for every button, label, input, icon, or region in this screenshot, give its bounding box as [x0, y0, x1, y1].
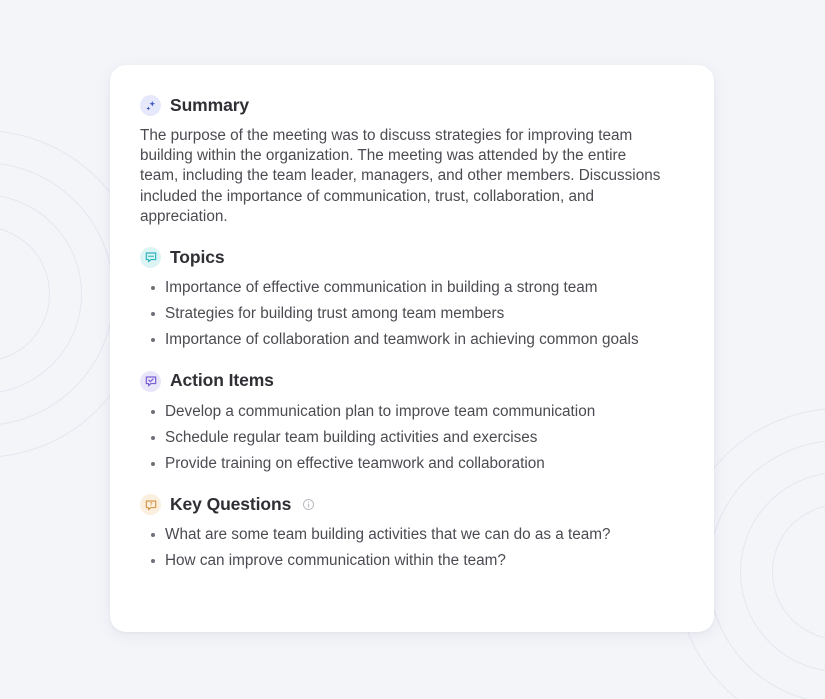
- decorative-ring: [708, 440, 825, 699]
- section-header-topics: Topics: [140, 247, 682, 268]
- decorative-ring: [0, 226, 50, 362]
- list-item: Strategies for building trust among team…: [140, 304, 682, 324]
- speech-bubble-check-icon: [140, 371, 161, 392]
- key-questions-list: What are some team building activities t…: [140, 525, 682, 571]
- section-title: Action Items: [170, 371, 274, 390]
- section-title: Key Questions: [170, 495, 291, 514]
- list-item: How can improve communication within the…: [140, 551, 682, 571]
- decorative-ring: [0, 162, 114, 426]
- section-title: Topics: [170, 248, 225, 267]
- speech-bubble-question-icon: ?: [140, 494, 161, 515]
- section-title: Summary: [170, 96, 249, 115]
- section-header-key-questions: ? Key Questions: [140, 494, 682, 515]
- section-topics: Topics Importance of effective communica…: [140, 247, 682, 351]
- section-header-summary: Summary: [140, 95, 682, 116]
- decorative-ring: [740, 472, 825, 672]
- decorative-ring: [772, 504, 825, 640]
- list-item: Provide training on effective teamwork a…: [140, 454, 682, 474]
- speech-bubble-dots-icon: [140, 247, 161, 268]
- list-item: Importance of collaboration and teamwork…: [140, 330, 682, 350]
- list-item: What are some team building activities t…: [140, 525, 682, 545]
- decorative-ring: [0, 194, 82, 394]
- svg-text:?: ?: [149, 502, 152, 508]
- topics-list: Importance of effective communication in…: [140, 278, 682, 351]
- summary-paragraph: The purpose of the meeting was to discus…: [140, 126, 663, 227]
- section-action-items: Action Items Develop a communication pla…: [140, 371, 682, 475]
- list-item: Develop a communication plan to improve …: [140, 402, 682, 422]
- sparkle-icon: [140, 95, 161, 116]
- section-key-questions: ? Key Questions What are some team build…: [140, 494, 682, 571]
- section-header-action-items: Action Items: [140, 371, 682, 392]
- list-item: Schedule regular team building activitie…: [140, 428, 682, 448]
- list-item: Importance of effective communication in…: [140, 278, 682, 298]
- info-circle-icon[interactable]: [302, 498, 315, 511]
- section-summary: Summary The purpose of the meeting was t…: [140, 95, 682, 227]
- action-items-list: Develop a communication plan to improve …: [140, 402, 682, 475]
- meeting-summary-card: Summary The purpose of the meeting was t…: [110, 65, 714, 632]
